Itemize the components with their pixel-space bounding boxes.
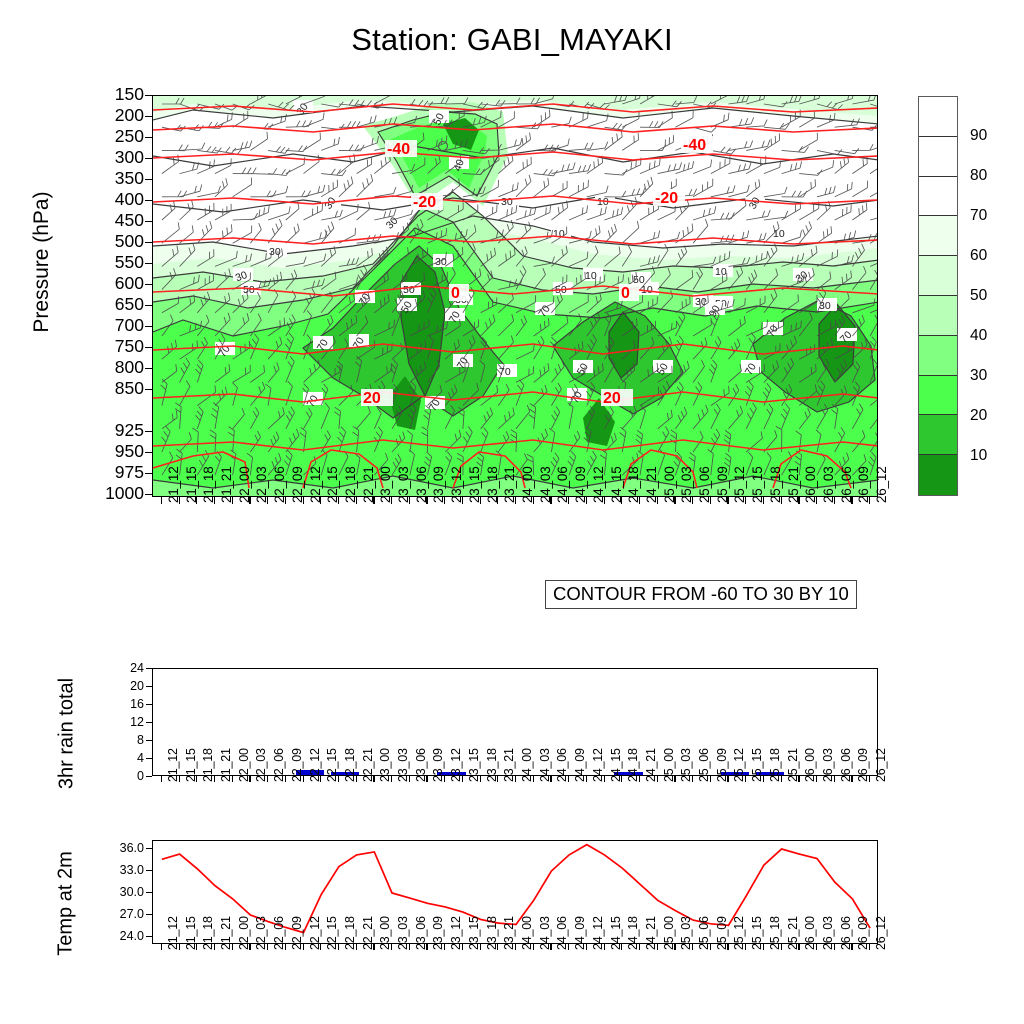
temp-tick bbox=[146, 914, 152, 915]
colorbar-tick-label: 90 bbox=[970, 127, 987, 145]
time-tick bbox=[869, 497, 870, 504]
time-tick bbox=[816, 497, 817, 504]
rain-tick bbox=[146, 740, 152, 741]
pressure-tick bbox=[145, 116, 152, 117]
colorbar-cell bbox=[919, 455, 957, 495]
pressure-tick bbox=[145, 347, 152, 348]
colorbar-tick-label: 10 bbox=[970, 447, 987, 465]
time-tick bbox=[515, 776, 516, 782]
rain-tick bbox=[146, 704, 152, 705]
time-tick bbox=[781, 776, 782, 782]
colorbar-tick-label: 30 bbox=[970, 367, 987, 385]
time-tick bbox=[604, 776, 605, 782]
pressure-tick-label: 800 bbox=[48, 359, 144, 377]
pressure-tick-label: 700 bbox=[48, 317, 144, 335]
pressure-tick bbox=[145, 473, 152, 474]
time-tick bbox=[161, 944, 162, 950]
time-tick bbox=[161, 776, 162, 782]
time-tick bbox=[462, 776, 463, 782]
time-tick bbox=[426, 944, 427, 950]
time-tick bbox=[692, 776, 693, 782]
time-tick bbox=[196, 776, 197, 782]
time-tick bbox=[834, 776, 835, 782]
pressure-tick-label: 400 bbox=[48, 191, 144, 209]
time-tick bbox=[480, 776, 481, 782]
rain-tick-label: 4 bbox=[110, 751, 144, 765]
time-tick bbox=[834, 944, 835, 950]
temp-tick bbox=[146, 936, 152, 937]
pressure-tick-label: 250 bbox=[48, 128, 144, 146]
pressure-tick bbox=[145, 137, 152, 138]
rain-tick bbox=[146, 668, 152, 669]
time-tick bbox=[303, 776, 304, 782]
rain-tick-label: 12 bbox=[110, 715, 144, 729]
time-tick bbox=[763, 497, 764, 504]
time-tick bbox=[373, 497, 374, 504]
time-tick bbox=[444, 776, 445, 782]
time-tick bbox=[657, 497, 658, 504]
time-tick bbox=[586, 776, 587, 782]
svg-text:-20: -20 bbox=[413, 194, 436, 211]
time-tick bbox=[232, 776, 233, 782]
time-tick bbox=[462, 497, 463, 504]
time-tick bbox=[586, 944, 587, 950]
temp-tick bbox=[146, 870, 152, 871]
time-tick bbox=[338, 497, 339, 504]
rain-tick bbox=[146, 722, 152, 723]
time-tick bbox=[798, 776, 799, 782]
time-tick bbox=[763, 776, 764, 782]
svg-text:30: 30 bbox=[819, 300, 831, 312]
time-tick bbox=[249, 497, 250, 504]
colorbar-cell bbox=[919, 336, 957, 376]
time-tick bbox=[710, 497, 711, 504]
time-tick-label: 26_12 bbox=[874, 748, 888, 782]
pressure-tick bbox=[145, 305, 152, 306]
time-tick bbox=[179, 944, 180, 950]
colorbar-tick-label: 50 bbox=[970, 287, 987, 305]
pressure-tick-label: 450 bbox=[48, 212, 144, 230]
time-tick bbox=[781, 497, 782, 504]
pressure-tick bbox=[145, 368, 152, 369]
time-tick bbox=[727, 944, 728, 950]
time-tick-label: 26_12 bbox=[874, 466, 889, 503]
time-tick bbox=[745, 497, 746, 504]
time-tick bbox=[214, 497, 215, 504]
time-tick bbox=[267, 776, 268, 782]
time-tick bbox=[657, 944, 658, 950]
time-tick bbox=[391, 944, 392, 950]
pressure-tick-label: 750 bbox=[48, 338, 144, 356]
time-tick bbox=[533, 944, 534, 950]
pressure-tick bbox=[145, 431, 152, 432]
time-tick-label: 26_12 bbox=[874, 916, 888, 950]
time-tick bbox=[267, 497, 268, 504]
pressure-tick-label: 550 bbox=[48, 254, 144, 272]
time-tick bbox=[621, 497, 622, 504]
pressure-tick bbox=[145, 452, 152, 453]
pressure-tick-label: 300 bbox=[48, 149, 144, 167]
temp-tick-label: 24.0 bbox=[102, 929, 144, 943]
temp-y-axis-title: Temp at 2m bbox=[55, 794, 78, 1014]
temp-tick-label: 27.0 bbox=[102, 907, 144, 921]
svg-text:-40: -40 bbox=[387, 141, 410, 158]
svg-text:0: 0 bbox=[621, 285, 630, 302]
contour-plot-svg: 30 50 40 30 30 10 30 30 10 10 30 30 10 1… bbox=[153, 96, 878, 497]
colorbar-cell bbox=[919, 256, 957, 296]
rain-tick-label: 20 bbox=[110, 679, 144, 693]
pressure-tick-label: 1000 bbox=[48, 485, 144, 503]
time-tick bbox=[604, 944, 605, 950]
temp-tick bbox=[146, 892, 152, 893]
time-tick bbox=[710, 776, 711, 782]
pressure-tick bbox=[145, 95, 152, 96]
colorbar-tick-label: 70 bbox=[970, 207, 987, 225]
time-tick bbox=[356, 497, 357, 504]
time-tick bbox=[568, 776, 569, 782]
time-tick bbox=[515, 497, 516, 504]
time-tick bbox=[391, 497, 392, 504]
rain-tick bbox=[146, 758, 152, 759]
time-tick bbox=[834, 497, 835, 504]
time-tick bbox=[426, 776, 427, 782]
pressure-tick-label: 500 bbox=[48, 233, 144, 251]
time-tick bbox=[533, 776, 534, 782]
svg-text:0: 0 bbox=[451, 285, 460, 302]
time-tick bbox=[232, 944, 233, 950]
time-tick bbox=[621, 944, 622, 950]
colorbar-tick-label: 60 bbox=[970, 247, 987, 265]
time-tick bbox=[692, 944, 693, 950]
page-title: Station: GABI_MAYAKI bbox=[0, 22, 1024, 58]
colorbar-cell bbox=[919, 97, 957, 137]
colorbar-cell bbox=[919, 296, 957, 336]
svg-text:10: 10 bbox=[715, 266, 727, 278]
time-tick bbox=[550, 944, 551, 950]
svg-text:20: 20 bbox=[603, 390, 621, 407]
time-tick bbox=[338, 776, 339, 782]
time-tick bbox=[196, 944, 197, 950]
pressure-tick bbox=[145, 494, 152, 495]
time-tick bbox=[869, 776, 870, 782]
time-tick bbox=[320, 944, 321, 950]
colorbar-cell bbox=[919, 177, 957, 217]
time-tick bbox=[409, 776, 410, 782]
pressure-tick-label: 950 bbox=[48, 443, 144, 461]
pressure-tick-label: 350 bbox=[48, 170, 144, 188]
svg-text:50: 50 bbox=[403, 284, 415, 296]
time-tick bbox=[320, 497, 321, 504]
time-tick bbox=[426, 497, 427, 504]
time-tick bbox=[851, 944, 852, 950]
colorbar-cell bbox=[919, 137, 957, 177]
pressure-tick-label: 650 bbox=[48, 296, 144, 314]
rain-tick-label: 16 bbox=[110, 697, 144, 711]
time-tick bbox=[639, 776, 640, 782]
time-tick bbox=[604, 497, 605, 504]
time-tick bbox=[851, 497, 852, 504]
svg-text:20: 20 bbox=[363, 390, 381, 407]
colorbar-tick-label: 40 bbox=[970, 327, 987, 345]
pressure-tick-label: 850 bbox=[48, 380, 144, 398]
time-tick bbox=[568, 944, 569, 950]
pressure-tick-label: 975 bbox=[48, 464, 144, 482]
time-tick bbox=[303, 944, 304, 950]
rain-tick-label: 24 bbox=[110, 661, 144, 675]
colorbar-cell bbox=[919, 376, 957, 416]
time-tick bbox=[621, 776, 622, 782]
time-tick bbox=[497, 497, 498, 504]
time-tick bbox=[356, 944, 357, 950]
contour-range-note: CONTOUR FROM -60 TO 30 BY 10 bbox=[545, 580, 857, 609]
time-tick bbox=[409, 944, 410, 950]
time-tick bbox=[851, 776, 852, 782]
time-tick bbox=[480, 497, 481, 504]
time-tick bbox=[373, 776, 374, 782]
time-tick bbox=[533, 497, 534, 504]
temp-tick-label: 30.0 bbox=[102, 885, 144, 899]
time-tick bbox=[320, 776, 321, 782]
time-tick bbox=[285, 776, 286, 782]
colorbar-cell bbox=[919, 415, 957, 455]
time-tick bbox=[285, 497, 286, 504]
pressure-tick bbox=[145, 221, 152, 222]
time-tick bbox=[550, 776, 551, 782]
time-tick bbox=[816, 944, 817, 950]
time-tick bbox=[692, 497, 693, 504]
time-height-cross-section[interactable]: 30 50 40 30 30 10 30 30 10 10 30 30 10 1… bbox=[152, 95, 878, 497]
pressure-tick-label: 150 bbox=[48, 86, 144, 104]
time-tick bbox=[869, 944, 870, 950]
time-tick bbox=[179, 497, 180, 504]
time-tick bbox=[356, 776, 357, 782]
time-tick bbox=[781, 944, 782, 950]
time-tick bbox=[444, 944, 445, 950]
time-tick bbox=[249, 944, 250, 950]
time-tick bbox=[214, 944, 215, 950]
pressure-tick bbox=[145, 158, 152, 159]
svg-text:-40: -40 bbox=[683, 137, 706, 154]
colorbar-tick-label: 80 bbox=[970, 167, 987, 185]
time-tick bbox=[568, 497, 569, 504]
time-tick bbox=[196, 497, 197, 504]
pressure-tick bbox=[145, 200, 152, 201]
time-tick bbox=[515, 944, 516, 950]
pressure-tick bbox=[145, 284, 152, 285]
time-tick bbox=[285, 944, 286, 950]
time-tick bbox=[798, 497, 799, 504]
colorbar[interactable] bbox=[918, 96, 958, 496]
time-tick bbox=[409, 497, 410, 504]
pressure-tick-label: 200 bbox=[48, 107, 144, 125]
time-tick bbox=[444, 497, 445, 504]
time-tick bbox=[639, 497, 640, 504]
time-tick bbox=[373, 944, 374, 950]
time-tick bbox=[586, 497, 587, 504]
rain-tick-label: 8 bbox=[110, 733, 144, 747]
time-tick bbox=[745, 776, 746, 782]
time-tick bbox=[214, 776, 215, 782]
time-tick bbox=[497, 776, 498, 782]
time-tick bbox=[480, 944, 481, 950]
time-tick bbox=[727, 497, 728, 504]
rain-tick bbox=[146, 686, 152, 687]
time-tick bbox=[550, 497, 551, 504]
time-tick bbox=[179, 776, 180, 782]
svg-text:30: 30 bbox=[501, 196, 513, 208]
time-tick bbox=[639, 944, 640, 950]
time-tick bbox=[710, 944, 711, 950]
colorbar-tick-label: 20 bbox=[970, 407, 987, 425]
time-tick bbox=[497, 944, 498, 950]
pressure-tick-label: 925 bbox=[48, 422, 144, 440]
time-tick bbox=[674, 776, 675, 782]
time-tick bbox=[798, 944, 799, 950]
time-tick bbox=[727, 776, 728, 782]
time-tick bbox=[267, 944, 268, 950]
time-tick bbox=[816, 776, 817, 782]
time-tick bbox=[657, 776, 658, 782]
svg-text:-20: -20 bbox=[655, 190, 678, 207]
time-tick bbox=[674, 944, 675, 950]
svg-text:10: 10 bbox=[585, 270, 597, 282]
time-tick bbox=[338, 944, 339, 950]
rain-tick bbox=[146, 776, 152, 777]
pressure-tick bbox=[145, 242, 152, 243]
pressure-tick bbox=[145, 389, 152, 390]
rain-tick-label: 0 bbox=[110, 769, 144, 783]
time-tick bbox=[161, 497, 162, 504]
temp-tick-label: 36.0 bbox=[102, 841, 144, 855]
time-tick bbox=[303, 497, 304, 504]
time-tick bbox=[391, 776, 392, 782]
time-tick bbox=[674, 497, 675, 504]
colorbar-cell bbox=[919, 216, 957, 256]
pressure-tick bbox=[145, 326, 152, 327]
time-tick bbox=[249, 776, 250, 782]
pressure-tick bbox=[145, 179, 152, 180]
main-y-axis-labels: 1502002503003504004505005506006507007508… bbox=[48, 95, 144, 497]
temp-tick bbox=[146, 848, 152, 849]
svg-text:50: 50 bbox=[243, 284, 255, 296]
time-tick bbox=[745, 944, 746, 950]
temp-tick-label: 33.0 bbox=[102, 863, 144, 877]
time-tick bbox=[462, 944, 463, 950]
pressure-tick-label: 600 bbox=[48, 275, 144, 293]
time-tick bbox=[232, 497, 233, 504]
pressure-tick bbox=[145, 263, 152, 264]
time-tick bbox=[763, 944, 764, 950]
